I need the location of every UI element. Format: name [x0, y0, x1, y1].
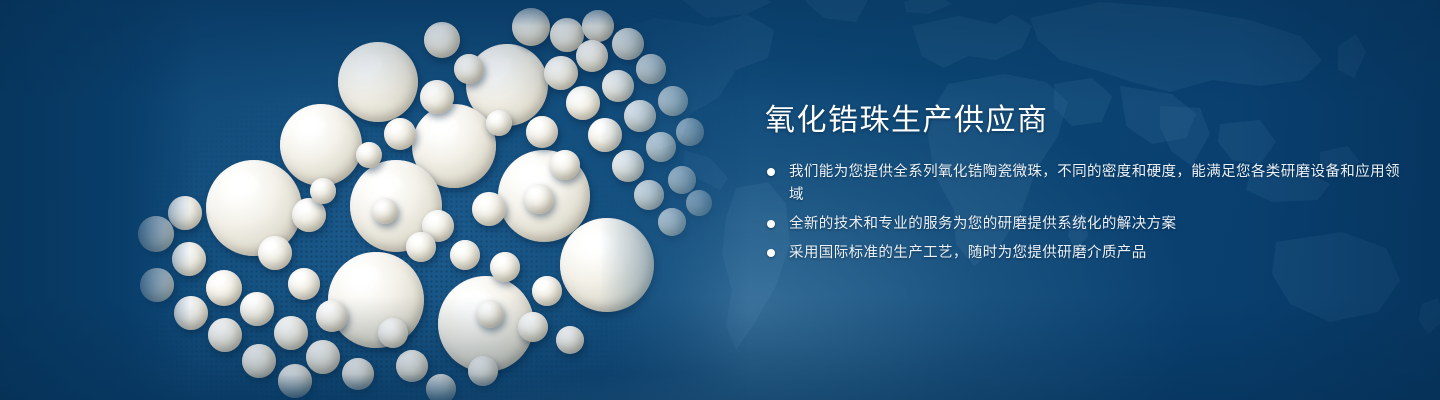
banner-content: 氧化锆珠生产供应商 我们能为您提供全系列氧化锆陶瓷微珠，不同的密度和硬度，能满足… [765, 104, 1405, 265]
bullet-dot-icon [767, 249, 775, 257]
list-item: 全新的技术和专业的服务为您的研磨提供系统化的解决方案 [765, 213, 1405, 236]
product-photo-zirconia-beads [120, 0, 760, 400]
list-item: 采用国际标准的生产工艺，随时为您提供研磨介质产品 [765, 242, 1405, 265]
feature-list: 我们能为您提供全系列氧化锆陶瓷微珠，不同的密度和硬度，能满足您各类研磨设备和应用… [765, 161, 1405, 265]
page-title: 氧化锆珠生产供应商 [765, 104, 1405, 139]
bullet-dot-icon [767, 168, 775, 176]
feature-text: 全新的技术和专业的服务为您的研磨提供系统化的解决方案 [789, 213, 1405, 236]
feature-text: 我们能为您提供全系列氧化锆陶瓷微珠，不同的密度和硬度，能满足您各类研磨设备和应用… [789, 161, 1405, 207]
bullet-dot-icon [767, 220, 775, 228]
hero-banner: 氧化锆珠生产供应商 我们能为您提供全系列氧化锆陶瓷微珠，不同的密度和硬度，能满足… [0, 0, 1440, 400]
bead-cluster [120, 0, 760, 400]
feature-text: 采用国际标准的生产工艺，随时为您提供研磨介质产品 [789, 242, 1405, 265]
list-item: 我们能为您提供全系列氧化锆陶瓷微珠，不同的密度和硬度，能满足您各类研磨设备和应用… [765, 161, 1405, 207]
